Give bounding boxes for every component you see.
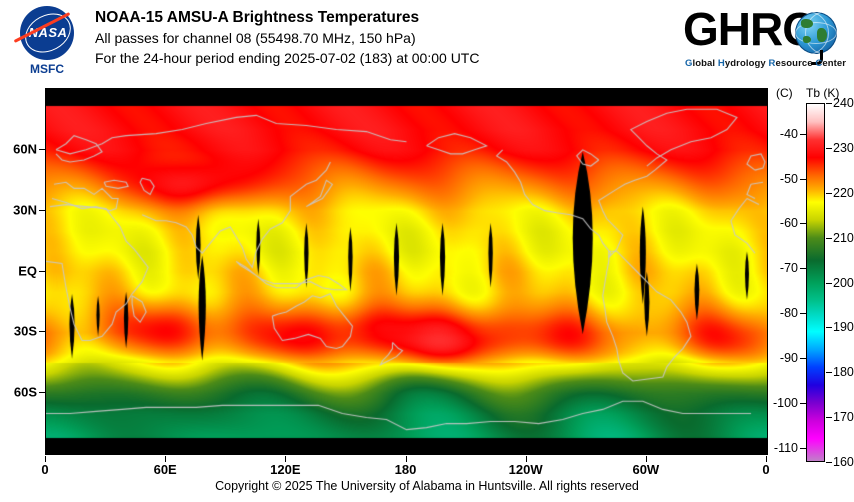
colorbar-celsius-tick-label: -100 (773, 396, 798, 410)
colorbar-gradient (807, 104, 824, 461)
title-subtitle-period: For the 24-hour period ending 2025-07-02… (95, 48, 479, 68)
ghrc-tagline-part: G (685, 58, 693, 69)
colorbar-celsius-tick (800, 223, 806, 224)
colorbar (806, 103, 825, 462)
colorbar-celsius-tick (800, 358, 806, 359)
colorbar-kelvin-tick-label: 190 (833, 320, 854, 334)
colorbar-celsius-tick (800, 313, 806, 314)
ghrc-tagline-part: H (718, 58, 725, 69)
y-axis-tick-label: 60S (14, 385, 37, 400)
colorbar-kelvin-tick (826, 327, 832, 328)
colorbar-celsius-tick (800, 403, 806, 404)
colorbar-kelvin-tick (826, 103, 832, 104)
colorbar-celsius-tick-label: -40 (780, 127, 798, 141)
colorbar-celsius-labels: -40-50-60-70-80-90-100-110 (762, 0, 798, 502)
y-axis-labels: 60N30NEQ30S60S (0, 0, 37, 502)
colorbar-kelvin-tick-label: 230 (833, 141, 854, 155)
colorbar-celsius-tick-label: -90 (780, 351, 798, 365)
globe-icon (795, 12, 837, 54)
y-axis-tick-label: 30N (13, 202, 37, 217)
y-axis-tick (39, 210, 45, 211)
x-axis-tick-label: 60E (154, 462, 177, 477)
x-axis-tick (646, 89, 647, 95)
page-title: NOAA-15 AMSU-A Brightness Temperatures (95, 8, 479, 28)
colorbar-celsius-tick (800, 179, 806, 180)
colorbar-kelvin-tick-label: 210 (833, 231, 854, 245)
colorbar-celsius-tick-label: -70 (780, 261, 798, 275)
colorbar-celsius-tick-label: -60 (780, 216, 798, 230)
y-axis-tick-label: 30S (14, 324, 37, 339)
colorbar-kelvin-tick (826, 417, 832, 418)
colorbar-kelvin-tick (826, 193, 832, 194)
title-subtitle-channel: All passes for channel 08 (55498.70 MHz,… (95, 28, 479, 48)
ghrc-tagline-part: enter (822, 58, 846, 69)
title-block: NOAA-15 AMSU-A Brightness Temperatures A… (95, 8, 479, 68)
colorbar-kelvin-tick (826, 372, 832, 373)
figure-root: NASA MSFC NOAA-15 AMSU-A Brightness Temp… (0, 0, 854, 502)
colorbar-celsius-tick-label: -50 (780, 172, 798, 186)
colorbar-celsius-tick (800, 448, 806, 449)
map-plot-area (45, 88, 768, 455)
x-axis-tick (165, 89, 166, 95)
x-axis-tick-label: 120W (509, 462, 543, 477)
colorbar-kelvin-tick-label: 240 (833, 96, 854, 110)
ghrc-tagline-part: lobal (693, 58, 718, 69)
colorbar-celsius-tick-label: -110 (774, 441, 798, 455)
colorbar-kelvin-tick-label: 220 (833, 186, 854, 200)
colorbar-kelvin-tick (826, 283, 832, 284)
colorbar-kelvin-tick-label: 160 (833, 455, 854, 469)
x-axis-tick-label: 120E (270, 462, 300, 477)
y-axis-tick (39, 331, 45, 332)
x-axis-tick (526, 89, 527, 95)
y-axis-tick (39, 271, 45, 272)
colorbar-kelvin-tick (826, 462, 832, 463)
colorbar-kelvin-tick (826, 148, 832, 149)
y-axis-tick (39, 392, 45, 393)
x-axis-tick (45, 89, 46, 95)
colorbar-celsius-tick (800, 134, 806, 135)
x-axis-tick-label: 0 (41, 462, 48, 477)
colorbar-kelvin-tick-label: 180 (833, 365, 854, 379)
x-axis-tick (406, 89, 407, 95)
colorbar-kelvin-tick-label: 200 (833, 276, 854, 290)
y-axis-tick-label: 60N (13, 141, 37, 156)
x-axis-tick-label: 180 (395, 462, 417, 477)
x-axis-tick-label: 60W (632, 462, 659, 477)
brightness-temperature-map (46, 89, 767, 454)
colorbar-kelvin-tick (826, 238, 832, 239)
y-axis-tick-label: EQ (18, 263, 37, 278)
copyright-notice: Copyright © 2025 The University of Alaba… (0, 479, 854, 493)
x-axis-tick (285, 89, 286, 95)
y-axis-tick (39, 149, 45, 150)
colorbar-kelvin-tick-label: 170 (833, 410, 854, 424)
colorbar-celsius-tick-label: -80 (780, 306, 798, 320)
colorbar-celsius-tick (800, 268, 806, 269)
